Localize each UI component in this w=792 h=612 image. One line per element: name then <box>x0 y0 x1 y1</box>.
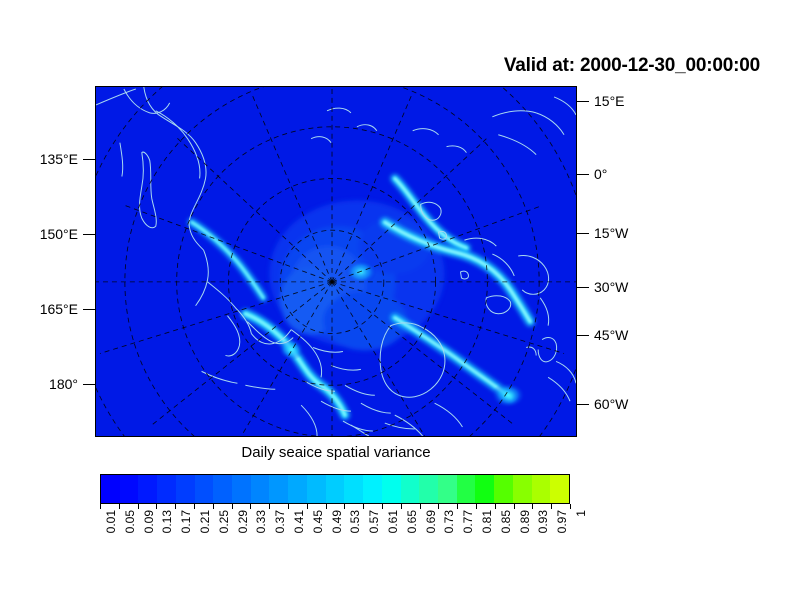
colorbar-cell <box>382 475 401 503</box>
tick-label-right-2: 15°W <box>594 226 704 240</box>
colorbar-tick-label: 0.25 <box>218 510 230 533</box>
colorbar-tick-label: 0.77 <box>462 510 474 533</box>
tick-label-left-2: 165°E <box>0 302 78 316</box>
colorbar-tick <box>514 504 515 509</box>
tick-left-3 <box>83 384 95 385</box>
tick-right-1 <box>577 174 589 175</box>
colorbar-tick <box>551 504 552 509</box>
tick-left-0 <box>83 159 95 160</box>
colorbar-cell <box>307 475 326 503</box>
colorbar-tick-label: 0.09 <box>143 510 155 533</box>
tick-right-0 <box>577 101 589 102</box>
colorbar-tick-label: 0.05 <box>124 510 136 533</box>
figure-canvas: Valid at: 2000-12-30_00:00:00 <box>0 0 792 612</box>
colorbar[interactable]: 0.010.050.090.130.170.210.250.290.330.37… <box>100 474 570 504</box>
colorbar-tick-label: 1 <box>575 510 587 517</box>
tick-label-right-4: 45°W <box>594 328 704 342</box>
colorbar-tick <box>269 504 270 509</box>
colorbar-cell <box>550 475 569 503</box>
tick-label-right-1: 0° <box>594 167 704 181</box>
colorbar-tick-label: 0.53 <box>349 510 361 533</box>
tick-label-right-5: 60°W <box>594 397 704 411</box>
colorbar-tick-label: 0.33 <box>255 510 267 533</box>
colorbar-cell <box>457 475 476 503</box>
colorbar-tick <box>457 504 458 509</box>
colorbar-tick-label: 0.41 <box>293 510 305 533</box>
colorbar-tick <box>363 504 364 509</box>
colorbar-tick-label: 0.17 <box>180 510 192 533</box>
colorbar-tick <box>156 504 157 509</box>
colorbar-cell <box>326 475 345 503</box>
colorbar-tick <box>344 504 345 509</box>
tick-left-2 <box>83 309 95 310</box>
colorbar-tick <box>495 504 496 509</box>
colorbar-tick-label: 0.65 <box>406 510 418 533</box>
colorbar-cell <box>269 475 288 503</box>
colorbar-tick <box>326 504 327 509</box>
colorbar-cell <box>101 475 120 503</box>
colorbar-cell <box>288 475 307 503</box>
colorbar-cell <box>251 475 270 503</box>
colorbar-tick <box>194 504 195 509</box>
colorbar-cell <box>232 475 251 503</box>
colorbar-tick <box>438 504 439 509</box>
colorbar-cell <box>138 475 157 503</box>
colorbar-tick-label: 0.45 <box>312 510 324 533</box>
tick-right-5 <box>577 404 589 405</box>
colorbar-cell <box>438 475 457 503</box>
tick-right-3 <box>577 287 589 288</box>
colorbar-cell <box>419 475 438 503</box>
colorbar-tick-label: 0.97 <box>556 510 568 533</box>
colorbar-tick <box>232 504 233 509</box>
tick-label-left-0: 135°E <box>0 152 78 166</box>
page-title: Valid at: 2000-12-30_00:00:00 <box>504 55 760 77</box>
colorbar-tick-label: 0.21 <box>199 510 211 533</box>
colorbar-tick <box>250 504 251 509</box>
colorbar-cell <box>475 475 494 503</box>
tick-right-4 <box>577 335 589 336</box>
colorbar-tick <box>138 504 139 509</box>
colorbar-tick-label: 0.73 <box>443 510 455 533</box>
colorbar-tick <box>288 504 289 509</box>
colorbar-tick <box>100 504 101 509</box>
colorbar-cell <box>213 475 232 503</box>
colorbar-tick <box>213 504 214 509</box>
colorbar-cell <box>195 475 214 503</box>
colorbar-tick-label: 0.85 <box>500 510 512 533</box>
colorbar-cell <box>157 475 176 503</box>
colorbar-tick <box>570 504 571 509</box>
colorbar-tick <box>420 504 421 509</box>
colorbar-cell <box>120 475 139 503</box>
colorbar-cell <box>363 475 382 503</box>
colorbar-tick <box>119 504 120 509</box>
colorbar-cell <box>344 475 363 503</box>
colorbar-cell <box>494 475 513 503</box>
colorbar-tick <box>532 504 533 509</box>
colorbar-cell <box>513 475 532 503</box>
colorbar-tick-label: 0.49 <box>331 510 343 533</box>
colorbar-tick-label: 0.69 <box>425 510 437 533</box>
tick-left-1 <box>83 234 95 235</box>
colorbar-tick-label: 0.89 <box>519 510 531 533</box>
colorbar-tick-label: 0.13 <box>161 510 173 533</box>
colorbar-tick-label: 0.93 <box>537 510 549 533</box>
colorbar-tick <box>476 504 477 509</box>
colorbar-tick-label: 0.61 <box>387 510 399 533</box>
colorbar-cell <box>532 475 551 503</box>
colorbar-cell <box>176 475 195 503</box>
colorbar-tick <box>175 504 176 509</box>
colorbar-tick-labels: 0.010.050.090.130.170.210.250.290.330.37… <box>100 510 570 570</box>
north-pole-marker <box>330 280 333 283</box>
tick-label-left-1: 150°E <box>0 227 78 241</box>
colorbar-cell <box>401 475 420 503</box>
tick-label-right-3: 30°W <box>594 280 704 294</box>
colorbar-tick <box>401 504 402 509</box>
colorbar-tick-label: 0.81 <box>481 510 493 533</box>
tick-right-2 <box>577 233 589 234</box>
colorbar-tick <box>307 504 308 509</box>
tick-label-right-0: 15°E <box>594 94 704 108</box>
colorbar-tick <box>382 504 383 509</box>
map-caption: Daily seaice spatial variance <box>95 444 577 461</box>
map-plot-area[interactable] <box>95 86 577 437</box>
colorbar-tick-label: 0.29 <box>237 510 249 533</box>
colorbar-gradient[interactable] <box>100 474 570 504</box>
colorbar-tick-label: 0.37 <box>274 510 286 533</box>
colorbar-tick-label: 0.57 <box>368 510 380 533</box>
map-svg <box>96 87 576 436</box>
colorbar-tick-label: 0.01 <box>105 510 117 533</box>
tick-label-left-3: 180° <box>0 377 78 391</box>
